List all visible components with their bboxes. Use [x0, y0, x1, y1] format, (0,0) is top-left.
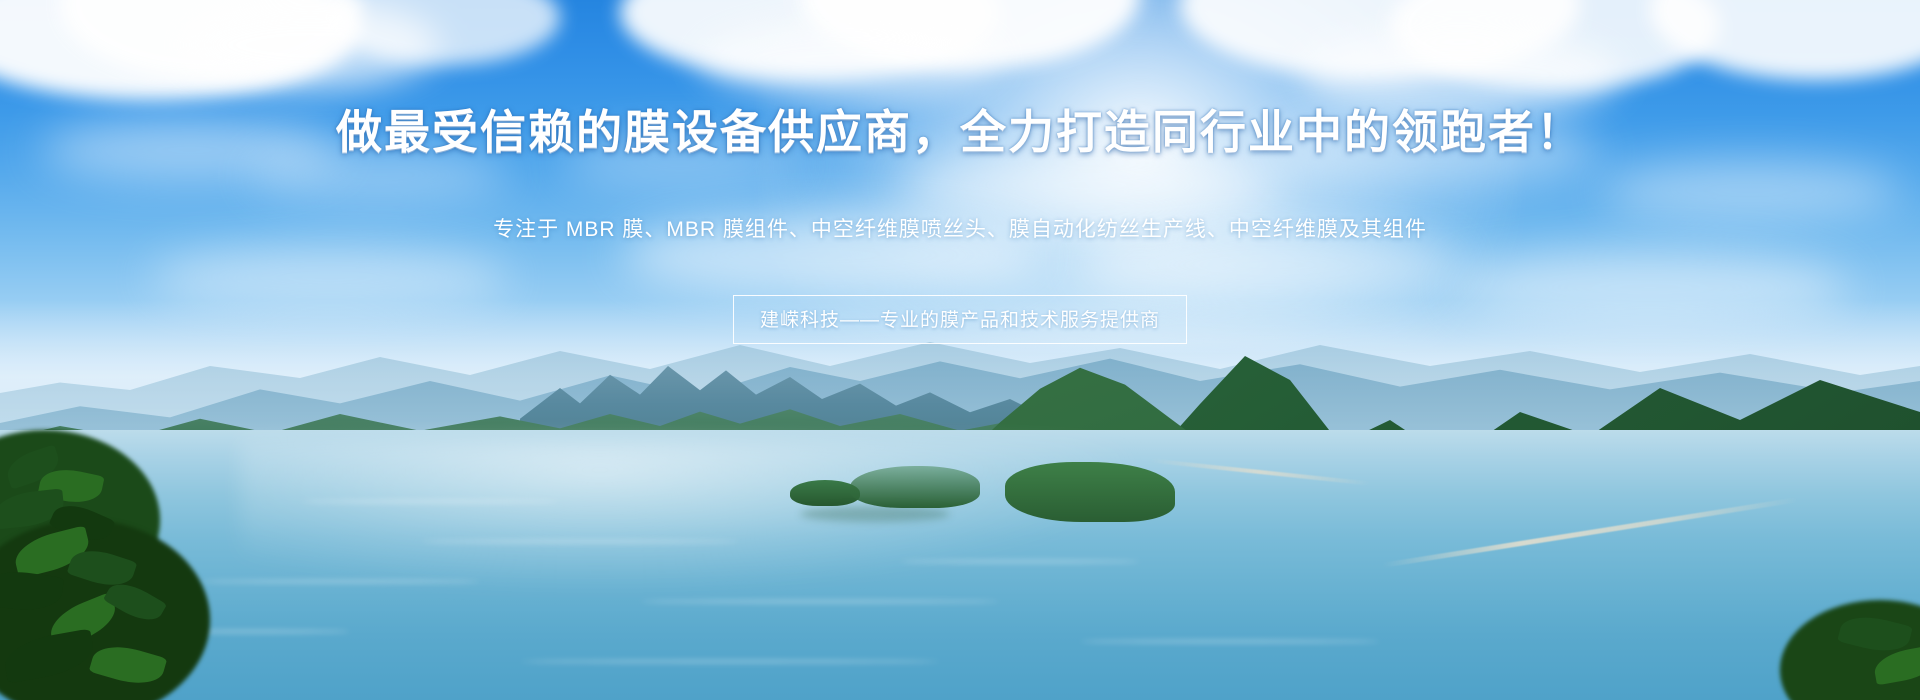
hero-banner: 做最受信赖的膜设备供应商，全力打造同行业中的领跑者！ 专注于 MBR 膜、MBR… [0, 0, 1920, 700]
banner-tagline-container: 建嵘科技——专业的膜产品和技术服务提供商 [0, 295, 1920, 344]
banner-text-overlay: 做最受信赖的膜设备供应商，全力打造同行业中的领跑者！ 专注于 MBR 膜、MBR… [0, 0, 1920, 700]
banner-tagline: 建嵘科技——专业的膜产品和技术服务提供商 [733, 295, 1187, 344]
banner-subtitle: 专注于 MBR 膜、MBR 膜组件、中空纤维膜喷丝头、膜自动化纺丝生产线、中空纤… [0, 213, 1920, 243]
banner-headline: 做最受信赖的膜设备供应商，全力打造同行业中的领跑者！ [0, 96, 1920, 162]
